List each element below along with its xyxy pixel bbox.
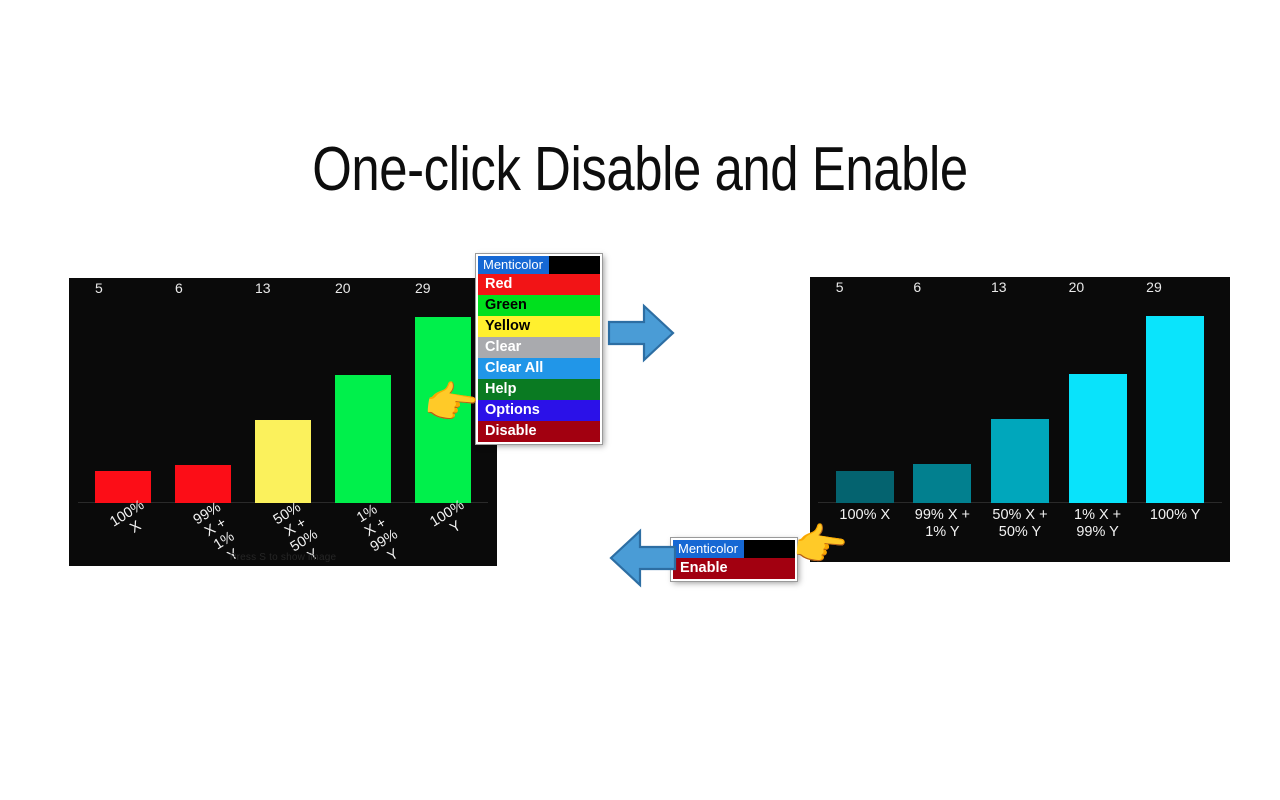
menu-item-list: RedGreenYellowClearClear AllHelpOptionsD… — [478, 274, 600, 442]
menu-item-help[interactable]: Help — [478, 379, 600, 400]
bar-value-label: 13 — [255, 281, 271, 295]
bar: 13 — [255, 420, 311, 503]
bar-slot: 5 — [836, 297, 894, 503]
menu-title-label: Menticolor — [673, 540, 744, 558]
menu-titlebar: Menticolor — [673, 540, 795, 558]
bar-slot: 6 — [175, 298, 231, 503]
menu-item-yellow[interactable]: Yellow — [478, 316, 600, 337]
pointing-hand-icon: 👉 — [790, 520, 850, 571]
x-axis-label: 100% Y — [1138, 503, 1212, 562]
bar: 5 — [836, 471, 894, 503]
x-axis-labels-right: 100% X99% X + 1% Y50% X + 50% Y1% X + 99… — [826, 503, 1214, 562]
menu-item-list: Enable — [673, 558, 795, 579]
page-title: One-click Disable and Enable — [115, 134, 1165, 205]
menu-item-options[interactable]: Options — [478, 400, 600, 421]
bar-slot: 29 — [1146, 297, 1204, 503]
menu-item-clear-all[interactable]: Clear All — [478, 358, 600, 379]
menu-title-label: Menticolor — [478, 256, 549, 274]
bar-slot: 13 — [255, 298, 311, 503]
x-axis-label-text: 100% X — [107, 497, 156, 544]
bar-slot: 13 — [991, 297, 1049, 503]
chart-panel-right: 56132029 100% X99% X + 1% Y50% X + 50% Y… — [810, 277, 1230, 562]
bar-value-label: 5 — [95, 281, 103, 295]
bar-group-right: 56132029 — [826, 297, 1214, 503]
chart-caption-left: Press S to show image — [69, 552, 497, 563]
bar: 6 — [175, 465, 231, 503]
bar: 29 — [1146, 316, 1204, 503]
bar-slot: 5 — [95, 298, 151, 503]
bar-value-label: 13 — [991, 280, 1007, 294]
bar: 20 — [1069, 374, 1127, 503]
bar-value-label: 20 — [335, 281, 351, 295]
menu-item-disable[interactable]: Disable — [478, 421, 600, 442]
bar-value-label: 29 — [1146, 280, 1162, 294]
menticolor-menu-disable[interactable]: Menticolor RedGreenYellowClearClear AllH… — [476, 254, 602, 444]
bar-value-label: 6 — [175, 281, 183, 295]
menu-item-clear[interactable]: Clear — [478, 337, 600, 358]
bar-value-label: 5 — [836, 280, 844, 294]
bar-slot: 20 — [1069, 297, 1127, 503]
x-axis-label: 1% X + 99% Y — [1061, 503, 1135, 562]
bar-slot: 20 — [335, 298, 391, 503]
menticolor-menu-enable[interactable]: Menticolor Enable — [671, 538, 797, 581]
slide-canvas: One-click Disable and Enable 56132029 10… — [0, 0, 1280, 800]
bar: 6 — [913, 464, 971, 503]
menu-titlebar: Menticolor — [478, 256, 600, 274]
bar: 5 — [95, 471, 151, 503]
bar: 20 — [335, 375, 391, 503]
bar-value-label: 20 — [1069, 280, 1085, 294]
x-axis-label: 50% X + 50% Y — [983, 503, 1057, 562]
bar: 13 — [991, 419, 1049, 503]
menu-item-red[interactable]: Red — [478, 274, 600, 295]
arrow-right-icon — [606, 302, 676, 364]
bar-slot: 6 — [913, 297, 971, 503]
pointing-hand-icon: 👉 — [421, 378, 481, 429]
bar-group-left: 56132029 — [83, 298, 483, 503]
menu-item-enable[interactable]: Enable — [673, 558, 795, 579]
x-axis-label-text: 100% Y — [427, 497, 476, 544]
menu-item-green[interactable]: Green — [478, 295, 600, 316]
arrow-left-icon — [608, 527, 678, 589]
bar-value-label: 29 — [415, 281, 431, 295]
bar-value-label: 6 — [913, 280, 921, 294]
x-axis-label: 99% X + 1% Y — [905, 503, 979, 562]
